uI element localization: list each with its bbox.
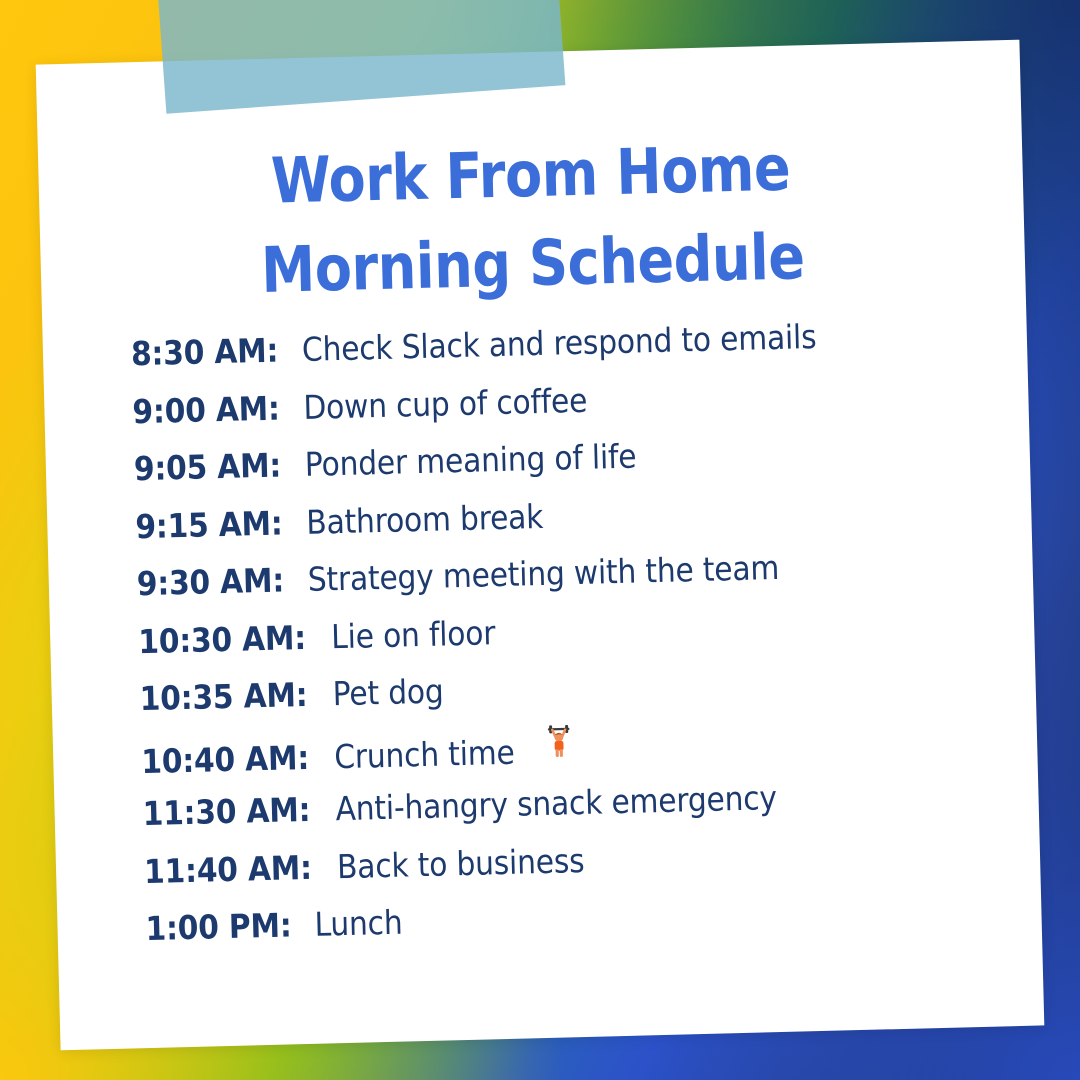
weight-lifter-icon bbox=[543, 723, 574, 765]
schedule-task: Check Slack and respond to emails bbox=[301, 317, 816, 369]
schedule-task: Down cup of coffee bbox=[302, 380, 587, 426]
schedule-time: 8:30 AM: bbox=[131, 331, 279, 374]
card-content: Work From Home Morning Schedule 8:30 AM:… bbox=[36, 40, 1045, 1051]
schedule-time: 11:40 AM: bbox=[144, 847, 313, 890]
schedule-time: 1:00 PM: bbox=[145, 905, 292, 948]
schedule-time: 9:15 AM: bbox=[135, 503, 283, 546]
schedule-time: 9:00 AM: bbox=[132, 388, 280, 431]
page-title: Work From Home Morning Schedule bbox=[107, 119, 957, 319]
schedule-time: 10:30 AM: bbox=[138, 617, 307, 660]
schedule-graphic: Work From Home Morning Schedule 8:30 AM:… bbox=[0, 0, 1080, 1080]
schedule-time: 10:40 AM: bbox=[141, 737, 310, 780]
schedule-list: 8:30 AM:Check Slack and respond to email… bbox=[131, 312, 1019, 966]
schedule-task: Crunch time bbox=[334, 732, 515, 776]
schedule-task: Bathroom break bbox=[305, 496, 543, 541]
schedule-time: 11:30 AM: bbox=[142, 790, 311, 833]
schedule-task: Lie on floor bbox=[331, 613, 496, 656]
schedule-time: 10:35 AM: bbox=[139, 675, 308, 718]
schedule-time: 9:05 AM: bbox=[133, 446, 281, 489]
schedule-task: Back to business bbox=[337, 840, 585, 885]
schedule-time: 9:30 AM: bbox=[136, 560, 284, 603]
schedule-task: Ponder meaning of life bbox=[304, 437, 636, 484]
schedule-task: Lunch bbox=[314, 903, 403, 944]
schedule-task: Pet dog bbox=[333, 671, 445, 713]
